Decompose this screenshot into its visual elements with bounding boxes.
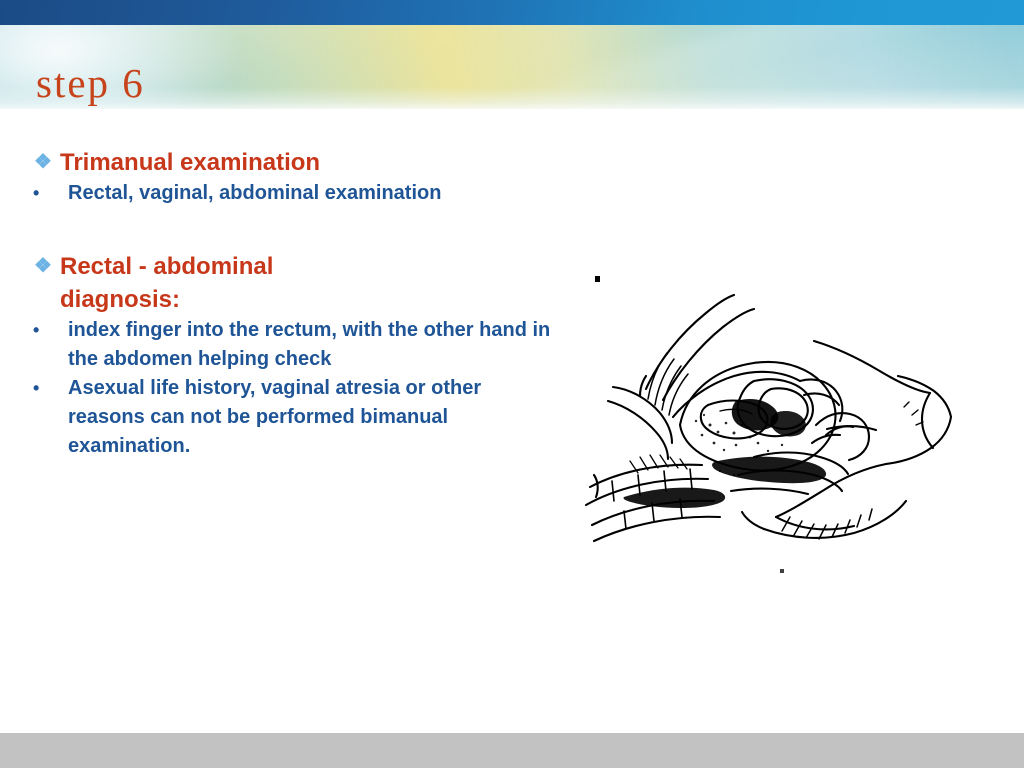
page-title: step 6 <box>36 61 145 105</box>
section-heading-label: Rectal - abdominal diagnosis: <box>60 250 390 316</box>
content-column: ❖ Trimanual examination • Rectal, vagina… <box>28 146 568 461</box>
list-item: • Asexual life history, vaginal atresia … <box>28 374 568 461</box>
dot-bullet-icon: • <box>28 316 68 345</box>
title-banner <box>0 25 1024 109</box>
dot-bullet-icon: • <box>28 374 68 403</box>
dot-bullet-icon: • <box>28 179 68 208</box>
list-item: • Rectal, vaginal, abdominal examination <box>28 179 568 208</box>
section-spacer <box>28 208 568 250</box>
list-item-label: Rectal, vaginal, abdominal examination <box>68 179 468 208</box>
diamond-bullet-icon: ❖ <box>28 250 60 283</box>
list-item-label: Asexual life history, vaginal atresia or… <box>68 374 558 461</box>
list-item: • index finger into the rectum, with the… <box>28 316 568 374</box>
footer-band <box>0 733 1024 768</box>
diamond-bullet-icon: ❖ <box>28 146 60 179</box>
section-heading-rectal-abdominal-diagnosis: ❖ Rectal - abdominal diagnosis: <box>28 250 568 316</box>
section-heading-trimanual-examination: ❖ Trimanual examination <box>28 146 568 179</box>
top-accent-bar <box>0 0 1024 25</box>
section-heading-label: Trimanual examination <box>60 146 390 179</box>
banner-bottom-fade <box>0 87 1024 109</box>
slide-root: step 6 ❖ Trimanual examination • Rectal,… <box>0 0 1024 768</box>
list-item-label: index finger into the rectum, with the o… <box>68 316 558 374</box>
rectal-abdominal-examination-illustration <box>568 229 965 583</box>
